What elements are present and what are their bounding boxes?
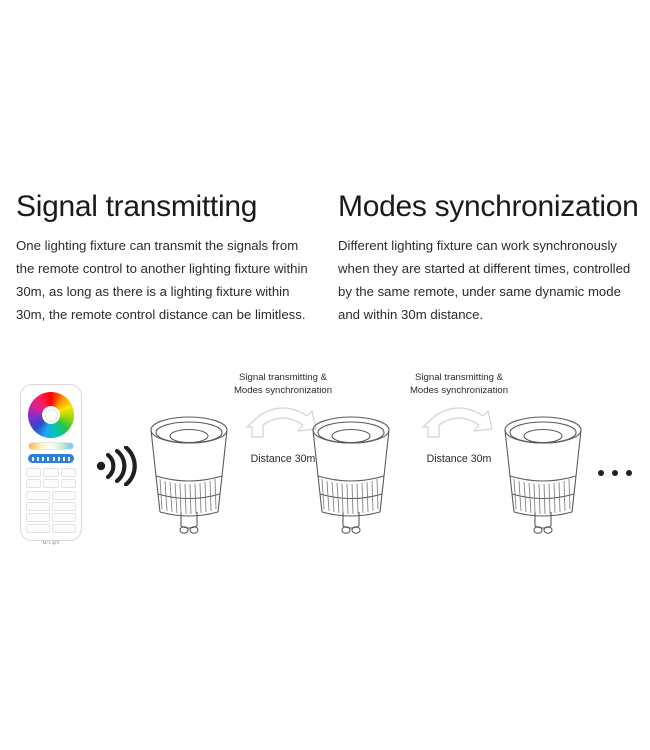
zone-slider-icon <box>28 454 74 463</box>
gu10-led-spotlight <box>497 414 589 539</box>
remote-key <box>26 479 41 488</box>
remote-key <box>26 491 50 500</box>
section-body-text-secondary: Different lighting fixture can work sync… <box>338 234 640 326</box>
remote-control: Mi·Light <box>20 384 82 541</box>
page-title-secondary: Modes synchronization <box>338 190 640 224</box>
cct-slider-icon <box>28 442 74 450</box>
remote-key <box>26 513 50 522</box>
remote-key <box>43 479 58 488</box>
dot <box>598 470 604 476</box>
section-signal-transmitting: Signal transmitting One lighting fixture… <box>16 190 316 326</box>
dot <box>612 470 618 476</box>
color-wheel-icon <box>28 392 74 438</box>
section-body-text: One lighting fixture can transmit the si… <box>16 234 316 326</box>
remote-key <box>52 513 76 522</box>
remote-zone-keys <box>26 491 76 533</box>
remote-top-keys <box>26 468 76 488</box>
section-modes-synchronization: Modes synchronization Different lighting… <box>338 190 640 326</box>
remote-key <box>61 479 76 488</box>
remote-key <box>26 502 50 511</box>
dot <box>626 470 632 476</box>
text-columns: Signal transmitting One lighting fixture… <box>0 190 650 326</box>
transmit-arrow-icon <box>422 403 496 443</box>
remote-key <box>61 468 76 477</box>
hop-caption: Signal transmitting & Modes synchronizat… <box>394 371 524 397</box>
remote-key <box>52 524 76 533</box>
remote-key <box>26 468 41 477</box>
remote-key <box>26 524 50 533</box>
remote-key <box>52 491 76 500</box>
continuation-dots <box>598 470 632 476</box>
system-diagram: Mi·Light <box>0 360 650 560</box>
remote-brand-logo: Mi·Light <box>26 540 76 545</box>
hop-caption: Signal transmitting & Modes synchronizat… <box>218 371 348 397</box>
gu10-led-spotlight <box>305 414 397 539</box>
remote-key <box>43 468 58 477</box>
remote-key <box>52 502 76 511</box>
signal-waves-icon <box>96 446 140 486</box>
page-title: Signal transmitting <box>16 190 316 224</box>
